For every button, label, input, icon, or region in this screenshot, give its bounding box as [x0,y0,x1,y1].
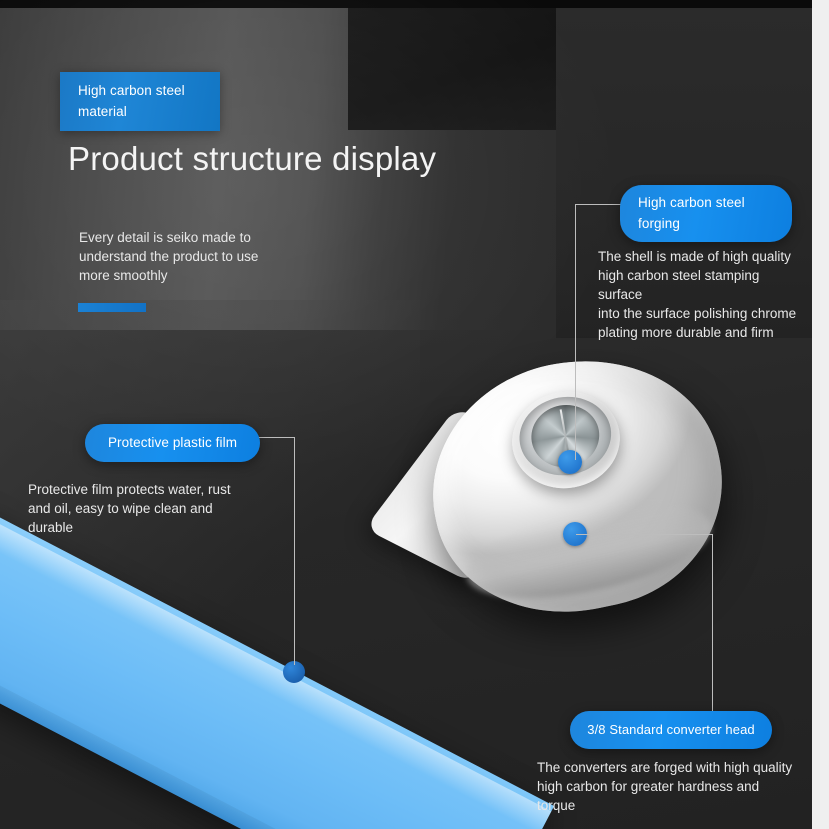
badge-high-carbon-steel-forging: High carbon steel forging [620,185,792,242]
leader-line-forging-vertical [575,204,576,460]
marker-dot-socket [558,450,582,474]
handle-edge-shadow [0,587,485,829]
product-structure-poster: Product structure display Every detail i… [0,0,829,829]
badge-high-carbon-steel-material: High carbon steel material [60,72,220,131]
leader-line-film-vertical [294,437,295,665]
leader-line-film-horizontal [259,437,295,438]
leader-line-forging-horizontal [575,204,621,205]
accent-bar [78,303,146,312]
intro-paragraph: Every detail is seiko made to understand… [79,228,284,285]
film-description: Protective film protects water, rust and… [28,480,263,537]
leader-line-converter-vertical [712,534,713,712]
page-title: Product structure display [68,140,436,178]
background-right-edge-strip [812,0,829,829]
wrench-head-rim [458,486,719,616]
badge-protective-plastic-film: Protective plastic film [85,424,260,462]
badge-standard-converter-head: 3/8 Standard converter head [570,711,772,749]
converter-description: The converters are forged with high qual… [537,758,805,815]
forging-description: The shell is made of high quality high c… [598,247,803,342]
leader-line-converter-horizontal [576,534,713,535]
